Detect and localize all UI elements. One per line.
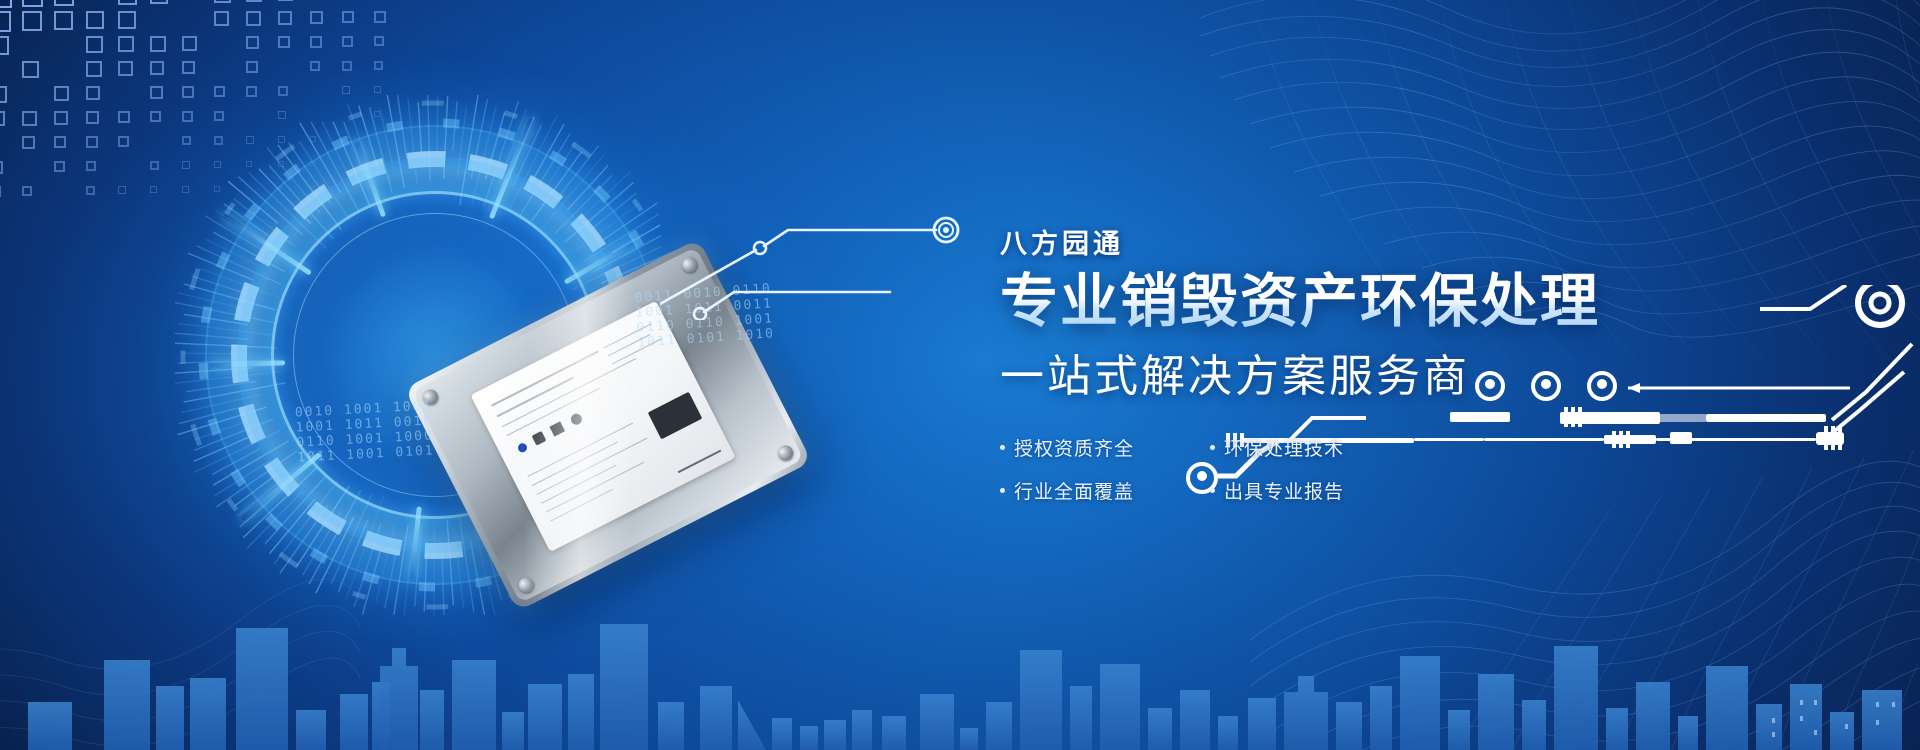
grid-square	[214, 0, 231, 3]
grid-square	[374, 61, 383, 70]
grid-square	[54, 111, 68, 125]
grid-square	[374, 86, 381, 93]
grid-square	[310, 61, 320, 71]
bullet-dot-icon	[1000, 445, 1005, 450]
grid-square	[342, 36, 353, 47]
grid-square	[374, 36, 384, 46]
grid-square	[86, 86, 100, 100]
feature-label: 环保处理技术	[1224, 434, 1344, 461]
grid-square	[54, 161, 65, 172]
grid-square	[86, 186, 95, 195]
grid-square	[118, 36, 134, 52]
grid-square	[22, 61, 39, 78]
grid-square	[22, 136, 35, 149]
feature-label: 授权资质齐全	[1014, 434, 1134, 461]
grid-square	[182, 61, 195, 74]
circuit-node-icon	[694, 308, 706, 320]
grid-square	[150, 161, 159, 170]
page-title: 专业销毁资产环保处理	[1000, 271, 1620, 332]
grid-square	[0, 186, 1, 197]
grid-square	[374, 11, 386, 23]
grid-square	[246, 36, 259, 49]
grid-square	[310, 11, 323, 24]
grid-square	[118, 111, 130, 123]
feature-list: 授权资质齐全环保处理技术行业全面覆盖出具专业报告	[1000, 434, 1420, 520]
grid-square	[86, 161, 96, 171]
grid-square	[278, 11, 292, 25]
grid-square	[22, 0, 43, 7]
promo-banner: 0010 1001 1001 1001 1011 0010 0110 1001 …	[0, 0, 1920, 750]
grid-square	[86, 36, 103, 53]
feature-item: 授权资质齐全	[1000, 434, 1210, 461]
grid-square	[182, 36, 197, 51]
page-subtitle: 一站式解决方案服务商	[1000, 340, 1620, 404]
grid-square	[214, 11, 229, 26]
grid-square	[150, 0, 168, 4]
binary-text-left: 0010 1001 1001 1001 1011 0010 0110 1001 …	[295, 398, 436, 465]
grid-square	[150, 186, 157, 193]
grid-square	[278, 36, 290, 48]
grid-square	[246, 11, 261, 26]
grid-square	[0, 36, 9, 55]
hdd-tech-ring-graphic	[175, 95, 695, 615]
grid-square	[0, 161, 3, 174]
grid-square	[22, 111, 37, 126]
grid-square	[22, 11, 42, 31]
feature-item: 环保处理技术	[1210, 434, 1420, 461]
grid-square	[278, 0, 293, 1]
banner-copy: 八方园通 专业销毁资产环保处理 一站式解决方案服务商 授权资质齐全环保处理技术行…	[1000, 222, 1620, 520]
city-skyline-icon	[0, 590, 1920, 750]
grid-square	[0, 11, 11, 32]
circuit-trace-corner-icon	[1750, 285, 1920, 405]
grid-square	[0, 111, 5, 126]
grid-square	[22, 186, 32, 196]
grid-square	[150, 61, 164, 75]
grid-square	[54, 136, 66, 148]
grid-square	[342, 86, 350, 94]
grid-square	[118, 136, 129, 147]
brand-name: 八方园通	[1000, 222, 1620, 261]
grid-square	[342, 11, 354, 23]
feature-label: 行业全面覆盖	[1014, 477, 1134, 504]
pointer-connector	[660, 200, 990, 320]
bullet-dot-icon	[1210, 488, 1215, 493]
grid-square	[0, 0, 12, 8]
bullet-dot-icon	[1000, 488, 1005, 493]
feature-label: 出具专业报告	[1224, 477, 1344, 504]
grid-square	[118, 0, 137, 5]
grid-square	[118, 186, 126, 194]
circuit-node-icon	[754, 242, 766, 254]
grid-square	[150, 86, 163, 99]
grid-square	[118, 11, 136, 29]
grid-square	[246, 61, 258, 73]
grid-square	[246, 0, 262, 2]
grid-square	[86, 61, 102, 77]
grid-square	[342, 61, 352, 71]
feature-item: 行业全面覆盖	[1000, 477, 1210, 504]
grid-square	[86, 136, 98, 148]
grid-square	[54, 0, 74, 6]
feature-item: 出具专业报告	[1210, 477, 1420, 504]
bullet-dot-icon	[1210, 445, 1215, 450]
grid-square	[150, 111, 161, 122]
grid-square	[310, 36, 322, 48]
grid-square	[118, 61, 133, 76]
grid-square	[54, 11, 73, 30]
grid-square	[150, 36, 166, 52]
grid-square	[86, 11, 104, 29]
grid-square	[54, 86, 69, 101]
grid-square	[86, 111, 99, 124]
grid-square	[0, 86, 7, 103]
